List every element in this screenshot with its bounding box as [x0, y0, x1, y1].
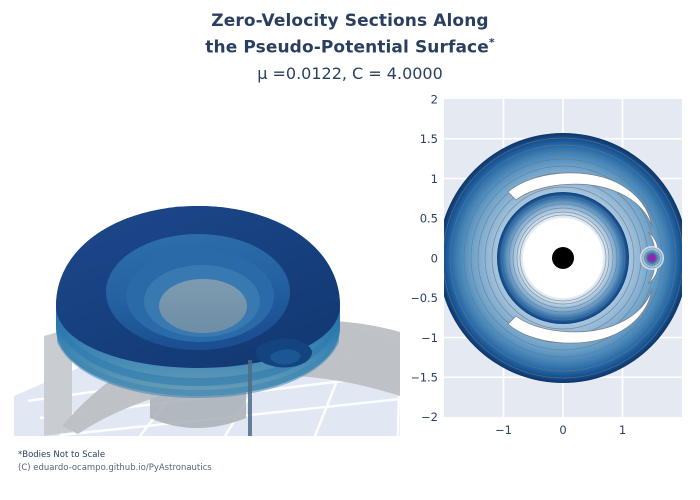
x-tick-label: 1	[619, 423, 626, 437]
title-line-1: Zero-Velocity Sections Along	[0, 10, 700, 32]
title-line-1-text: Zero-Velocity Sections Along	[211, 11, 488, 31]
y-tick-label: −1	[421, 331, 438, 345]
secondary-body-marker[interactable]	[649, 255, 656, 262]
x-tick-label: −1	[495, 423, 512, 437]
y-tick-label: 1.5	[420, 132, 438, 146]
primary-body-marker[interactable]	[552, 247, 574, 269]
figure-subtitle: μ =0.0122, C = 4.0000	[0, 62, 700, 86]
figure-title-block: Zero-Velocity Sections Along the Pseudo-…	[0, 10, 700, 86]
y-tick-label: −1.5	[412, 371, 438, 385]
surface-crater	[106, 234, 290, 350]
surface-3d-svg[interactable]	[0, 96, 400, 436]
y-tick-label: −0.5	[412, 291, 438, 305]
y-tick-label: 1	[431, 172, 438, 186]
x-tick-label: 0	[559, 423, 566, 437]
footnote-bodies-not-to-scale: *Bodies Not to Scale	[18, 449, 418, 462]
y-tick-label: −2	[421, 410, 438, 424]
contour-svg[interactable]: 2 1.5 1 0.5 0 −0.5 −1 −1.5 −2 −1 0 1	[412, 86, 700, 446]
y-axis-tick-labels: 2 1.5 1 0.5 0 −0.5 −1 −1.5 −2	[412, 93, 438, 425]
title-line-2-text: the Pseudo-Potential Surface	[205, 38, 489, 58]
surface-cut-slit	[248, 360, 252, 436]
panel-3d-surface[interactable]	[0, 96, 400, 436]
title-superscript-asterisk: *	[489, 36, 495, 49]
y-tick-label: 0.5	[420, 212, 438, 226]
credit-line[interactable]: (C) eduardo-ocampo.github.io/PyAstronaut…	[18, 462, 418, 475]
figure-canvas: Zero-Velocity Sections Along the Pseudo-…	[0, 0, 700, 500]
y-tick-label: 0	[431, 251, 438, 265]
title-line-2: the Pseudo-Potential Surface*	[0, 32, 700, 59]
panel-contour-plot[interactable]: 2 1.5 1 0.5 0 −0.5 −1 −1.5 −2 −1 0 1	[412, 86, 700, 446]
y-tick-label: 2	[431, 93, 438, 107]
figure-footer: *Bodies Not to Scale (C) eduardo-ocampo.…	[18, 449, 418, 475]
x-axis-tick-labels: −1 0 1	[495, 423, 626, 437]
